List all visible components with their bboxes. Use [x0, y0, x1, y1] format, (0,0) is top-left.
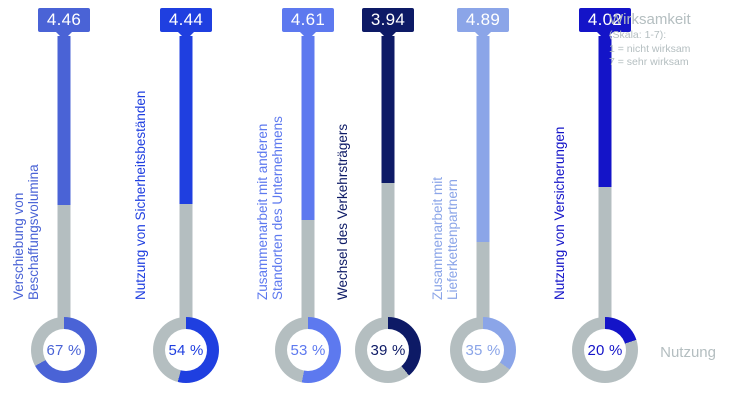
category-label-line1: Nutzung von Versicherungen — [552, 127, 567, 300]
category-label: Nutzung von Versicherungen — [552, 127, 567, 300]
legend-scale: (Skala: 1-7): — [609, 29, 721, 43]
category-label: Verschiebung vonBeschaffungsvolumina — [11, 164, 41, 300]
usage-percent-label: 54 % — [169, 342, 204, 359]
effectiveness-bar-track — [382, 36, 395, 330]
usage-donut: 67 % — [31, 317, 97, 383]
category-label: Nutzung von Sicherheitsbeständen — [133, 91, 148, 300]
usage-donut: 35 % — [450, 317, 516, 383]
effectiveness-bar-fill — [477, 36, 490, 242]
usage-donut: 20 % — [572, 317, 638, 383]
effectiveness-bar-fill — [382, 36, 395, 183]
value-badge: 4.89 — [457, 8, 509, 32]
category-label-line1: Nutzung von Sicherheitsbeständen — [133, 91, 148, 300]
legend-scale-low: 1 = nicht wirksam — [609, 43, 721, 57]
category-label-line1: Zusammenarbeit mit — [430, 177, 445, 300]
category-label-line2: Standorten des Unternehmens — [270, 116, 285, 300]
usage-percent-label: 39 % — [371, 342, 406, 359]
legend-wirksamkeit: Wirksamkeit (Skala: 1-7): 1 = nicht wirk… — [609, 10, 721, 70]
effectiveness-bar-track — [180, 36, 193, 330]
value-badge: 4.46 — [38, 8, 90, 32]
category-label-line1: Wechsel des Verkehrsträgers — [335, 124, 350, 300]
usage-donut-hole: 35 % — [462, 329, 504, 371]
effectiveness-bar-track — [477, 36, 490, 330]
usage-donut: 39 % — [355, 317, 421, 383]
usage-donut-hole: 20 % — [584, 329, 626, 371]
usage-percent-label: 35 % — [466, 342, 501, 359]
usage-percent-label: 20 % — [588, 342, 623, 359]
usage-percent-label: 67 % — [47, 342, 82, 359]
value-badge: 3.94 — [362, 8, 414, 32]
value-badge: 4.61 — [282, 8, 334, 32]
usage-donut: 54 % — [153, 317, 219, 383]
category-label-line2: Beschaffungsvolumina — [26, 164, 41, 300]
usage-donut-hole: 67 % — [43, 329, 85, 371]
usage-percent-label: 53 % — [291, 342, 326, 359]
measure-column: 4.4667 %Verschiebung vonBeschaffungsvolu… — [9, 0, 119, 403]
category-label-line1: Verschiebung von — [11, 193, 26, 300]
effectiveness-bar-fill — [58, 36, 71, 205]
measure-column: 3.9439 %Wechsel des Verkehrsträgers — [333, 0, 443, 403]
effectiveness-bar-fill — [302, 36, 315, 220]
legend-nutzung: Nutzung — [660, 344, 716, 361]
usage-donut: 53 % — [275, 317, 341, 383]
legend-title: Wirksamkeit — [609, 10, 721, 29]
effectiveness-bar-track — [58, 36, 71, 330]
value-badge: 4.44 — [160, 8, 212, 32]
effectiveness-bar-fill — [180, 36, 193, 204]
effectiveness-bar-track — [302, 36, 315, 330]
category-label-line2: Lieferkettenpartnern — [445, 177, 460, 300]
category-label: Zusammenarbeit mit anderenStandorten des… — [255, 116, 285, 300]
usage-donut-hole: 53 % — [287, 329, 329, 371]
legend-scale-high: 7 = sehr wirksam — [609, 56, 721, 70]
effectiveness-bar-track — [599, 36, 612, 330]
usage-donut-hole: 39 % — [367, 329, 409, 371]
category-label: Zusammenarbeit mitLieferkettenpartnern — [430, 177, 460, 300]
measure-column: 4.8935 %Zusammenarbeit mitLieferkettenpa… — [428, 0, 538, 403]
usage-donut-hole: 54 % — [165, 329, 207, 371]
category-label: Wechsel des Verkehrsträgers — [335, 124, 350, 300]
infographic-canvas: 4.4667 %Verschiebung vonBeschaffungsvolu… — [0, 0, 729, 403]
category-label-line1: Zusammenarbeit mit anderen — [255, 124, 270, 300]
measure-column: 4.4454 %Nutzung von Sicherheitsbeständen — [131, 0, 241, 403]
